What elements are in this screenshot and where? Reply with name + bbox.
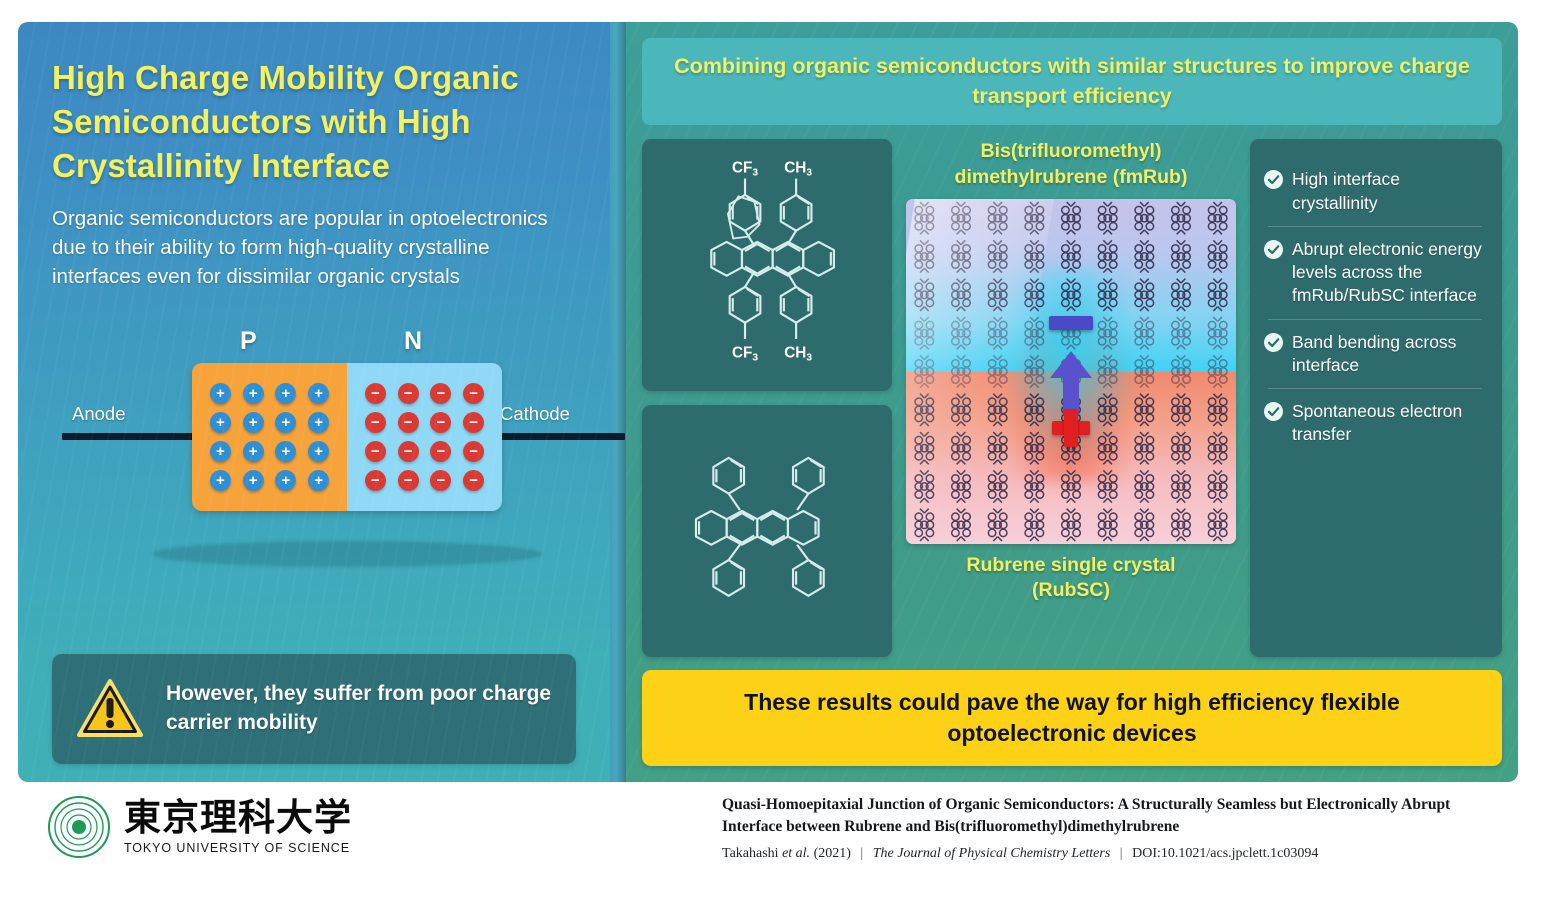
pn-junction-diagram: P N Anode Cathode ++++++++++++++++ −−−−−… [52, 315, 576, 585]
citation-doi: DOI:10.1021/acs.jpclett.1c03094 [1132, 846, 1318, 861]
positive-charge: + [210, 441, 231, 462]
positive-charge: + [308, 441, 329, 462]
warning-triangle-icon [76, 678, 144, 740]
checklist-item: Spontaneous electron transfer [1264, 391, 1486, 456]
label-cf3-top: CF3 [731, 159, 757, 178]
crystal-interface-image [906, 199, 1236, 544]
positive-charge: + [243, 412, 264, 433]
electron-minus-icon [1049, 316, 1093, 330]
citation-sep-2: | [1120, 846, 1123, 861]
anode-label: Anode [72, 403, 126, 425]
negative-charge: − [463, 470, 484, 491]
negative-charge: − [398, 441, 419, 462]
checklist-item-text: Spontaneous electron transfer [1292, 400, 1486, 447]
molecule-column: CF3 CH3 CF3 CH3 [642, 139, 892, 657]
footer: 東京理科大学 TOKYO UNIVERSITY OF SCIENCE Quasi… [0, 782, 1555, 900]
right-panel: Combining organic semiconductors with si… [626, 22, 1518, 782]
warning-text: However, they suffer from poor charge ca… [166, 680, 552, 737]
citation-journal: The Journal of Physical Chemistry Letter… [873, 846, 1111, 861]
citation-etal: et al. [782, 846, 810, 861]
negative-charge: − [365, 383, 386, 404]
diagram-shadow [152, 541, 542, 567]
n-region-label: N [404, 327, 422, 356]
positive-charge: + [210, 470, 231, 491]
checklist-separator [1268, 226, 1482, 227]
conclusion-text: These results could pave the way for hig… [670, 687, 1474, 749]
fmrub-caption: Bis(trifluoromethyl) dimethylrubrene (fm… [906, 139, 1236, 190]
positive-charge: + [243, 383, 264, 404]
university-seal-icon [48, 796, 110, 858]
left-panel: High Charge Mobility Organic Semiconduct… [18, 22, 610, 782]
positive-charge: + [308, 383, 329, 404]
positive-charge: + [275, 383, 296, 404]
anode-wire [62, 433, 202, 440]
right-panel-header: Combining organic semiconductors with si… [642, 38, 1502, 125]
checklist-item: Abrupt electronic energy levels across t… [1264, 229, 1486, 317]
rubrene-structure-icon [650, 413, 885, 650]
check-circle-icon [1264, 333, 1283, 352]
citation-authors: Takahashi [722, 846, 779, 861]
conclusion-banner: These results could pave the way for hig… [642, 670, 1502, 766]
page-title: High Charge Mobility Organic Semiconduct… [52, 56, 576, 188]
university-name-jp: 東京理科大学 [124, 799, 352, 836]
positive-charge: + [243, 441, 264, 462]
negative-charge: − [463, 383, 484, 404]
right-panel-content: CF3 CH3 CF3 CH3 [642, 139, 1502, 657]
negative-charge: − [430, 412, 451, 433]
citation-meta: Takahashi et al. (2021) | The Journal of… [722, 844, 1512, 864]
crystal-column: Bis(trifluoromethyl) dimethylrubrene (fm… [906, 139, 1236, 657]
positive-charge: + [275, 441, 296, 462]
positive-charge: + [275, 412, 296, 433]
rubrene-structure-card [642, 405, 892, 657]
negative-charge: − [398, 383, 419, 404]
rubsc-caption-line2: (RubSC) [966, 578, 1175, 603]
positive-charge: + [308, 412, 329, 433]
check-circle-icon [1264, 240, 1283, 259]
pn-junction-body: ++++++++++++++++ −−−−−−−−−−−−−−−− [192, 363, 502, 511]
negative-charge: − [463, 441, 484, 462]
university-logo: 東京理科大学 TOKYO UNIVERSITY OF SCIENCE [48, 796, 352, 858]
citation-sep-1: | [860, 846, 863, 861]
up-arrow-icon [1048, 351, 1094, 415]
findings-checklist: High interface crystallinityAbrupt elect… [1250, 139, 1502, 657]
label-ch3-top: CH3 [784, 159, 812, 178]
positive-charge: + [243, 470, 264, 491]
panel-divider [610, 22, 626, 782]
checklist-item: High interface crystallinity [1264, 159, 1486, 224]
negative-charge: − [463, 412, 484, 433]
citation: Quasi-Homoepitaxial Junction of Organic … [722, 794, 1512, 864]
citation-year: (2021) [814, 846, 851, 861]
negative-charge: − [365, 441, 386, 462]
check-circle-icon [1264, 170, 1283, 189]
citation-title: Quasi-Homoepitaxial Junction of Organic … [722, 794, 1512, 839]
negative-charge: − [398, 470, 419, 491]
positive-charge: + [275, 470, 296, 491]
n-type-region: −−−−−−−−−−−−−−−− [347, 363, 502, 511]
negative-charge: − [430, 383, 451, 404]
rubsc-caption-line1: Rubrene single crystal [966, 553, 1175, 578]
page-subtitle: Organic semiconductors are popular in op… [52, 204, 576, 291]
checklist-item-text: Band bending across interface [1292, 331, 1486, 378]
university-name-en: TOKYO UNIVERSITY OF SCIENCE [124, 841, 352, 855]
p-region-label: P [240, 327, 257, 356]
rubsc-caption: Rubrene single crystal (RubSC) [966, 553, 1175, 604]
infographic-root: High Charge Mobility Organic Semiconduct… [0, 0, 1555, 900]
label-cf3-bottom: CF3 [731, 344, 757, 363]
negative-charge: − [398, 412, 419, 433]
negative-charge: − [430, 470, 451, 491]
checklist-separator [1268, 319, 1482, 320]
negative-charge: − [365, 470, 386, 491]
positive-charge: + [210, 383, 231, 404]
cathode-wire [492, 433, 625, 440]
p-type-region: ++++++++++++++++ [192, 363, 347, 511]
checklist-item: Band bending across interface [1264, 322, 1486, 387]
negative-charge: − [365, 412, 386, 433]
cathode-label: Cathode [500, 403, 570, 425]
negative-charge: − [430, 441, 451, 462]
right-panel-header-text: Combining organic semiconductors with si… [662, 52, 1482, 111]
label-ch3-bottom: CH3 [784, 344, 812, 363]
positive-charge: + [308, 470, 329, 491]
checklist-item-text: High interface crystallinity [1292, 168, 1486, 215]
fmrub-structure-icon: CF3 CH3 CF3 CH3 [650, 147, 885, 384]
check-circle-icon [1264, 402, 1283, 421]
checklist-separator [1268, 388, 1482, 389]
hole-plus-icon [1052, 409, 1090, 447]
checklist-item-text: Abrupt electronic energy levels across t… [1292, 238, 1486, 308]
fmrub-structure-card: CF3 CH3 CF3 CH3 [642, 139, 892, 391]
positive-charge: + [210, 412, 231, 433]
warning-callout: However, they suffer from poor charge ca… [52, 654, 576, 764]
infographic-board: High Charge Mobility Organic Semiconduct… [18, 22, 1518, 782]
